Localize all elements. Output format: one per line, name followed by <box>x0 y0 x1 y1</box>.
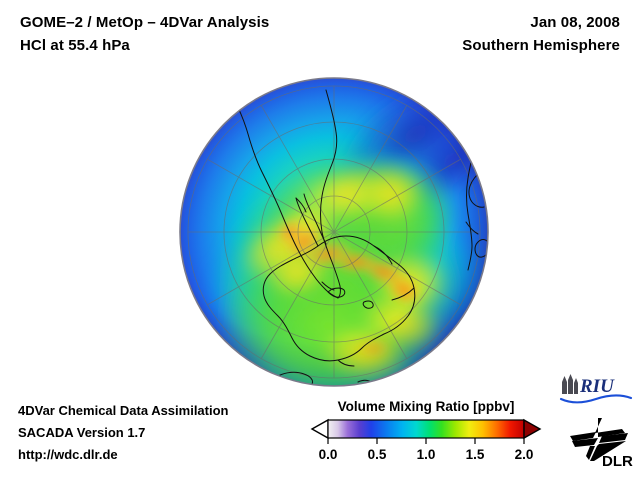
colorbar-gradient-bar <box>328 420 524 438</box>
credit-line-1: 4DVar Chemical Data Assimilation <box>18 400 229 422</box>
credit-line-2: SACADA Version 1.7 <box>18 422 229 444</box>
riu-tower-icon <box>562 374 578 394</box>
colorbar-over-arrow <box>524 420 540 438</box>
dlr-wordmark: DLR <box>602 453 633 470</box>
date-label: Jan 08, 2008 <box>462 11 620 34</box>
riu-wordmark: RIU <box>579 376 615 397</box>
colorbar-tick-label: 1.0 <box>417 447 436 462</box>
figure-canvas: GOME–2 / MetOp – 4DVar Analysis HCl at 5… <box>0 0 640 480</box>
colorbar-tick-label: 1.5 <box>466 447 485 462</box>
colorbar-tick-label: 0.0 <box>319 447 338 462</box>
dlr-logo: DLR <box>568 416 634 472</box>
colorbar-ticks <box>328 438 524 444</box>
riu-logo: RIU <box>558 372 634 406</box>
colorbar: Volume Mixing Ratio [ppbv] 0.00.51.01.52… <box>310 399 542 465</box>
header-right: Jan 08, 2008 Southern Hemisphere <box>462 11 620 57</box>
page-subtitle: HCl at 55.4 hPa <box>20 34 269 57</box>
region-label: Southern Hemisphere <box>462 34 620 57</box>
colorbar-tick-label: 2.0 <box>515 447 534 462</box>
colorbar-scale <box>310 418 542 446</box>
globe-map <box>178 76 490 388</box>
colorbar-under-arrow <box>312 420 328 438</box>
header-left: GOME–2 / MetOp – 4DVar Analysis HCl at 5… <box>20 11 269 57</box>
page-title: GOME–2 / MetOp – 4DVar Analysis <box>20 11 269 34</box>
credit-url[interactable]: http://wdc.dlr.de <box>18 444 229 466</box>
colorbar-tick-label: 0.5 <box>368 447 387 462</box>
colorbar-title: Volume Mixing Ratio [ppbv] <box>310 399 542 414</box>
footer-credits: 4DVar Chemical Data Assimilation SACADA … <box>18 400 229 466</box>
colorbar-tick-labels: 0.00.51.01.52.0 <box>310 447 542 465</box>
